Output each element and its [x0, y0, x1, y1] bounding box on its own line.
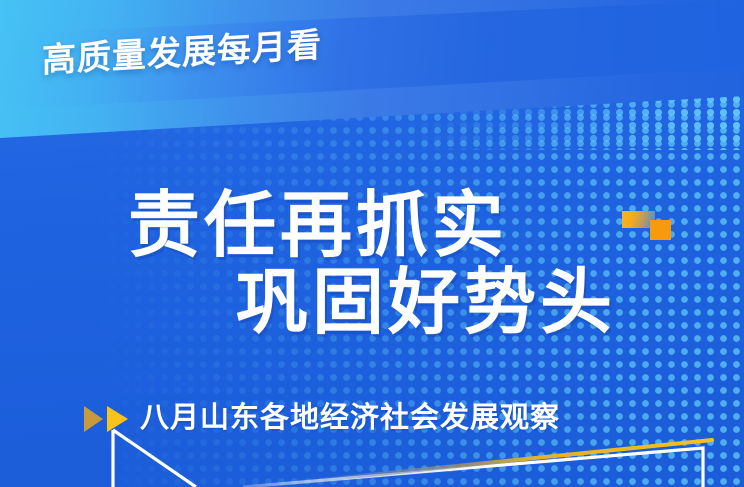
bottom-line-art-decoration	[0, 427, 744, 487]
orange-square-decoration	[650, 220, 671, 240]
headline-line-2: 巩固好势头	[0, 265, 744, 342]
poster-canvas: 高质量发展每月看 责任再抓实 巩固好势头 八月山东各地经济社会发展观察	[0, 0, 744, 487]
